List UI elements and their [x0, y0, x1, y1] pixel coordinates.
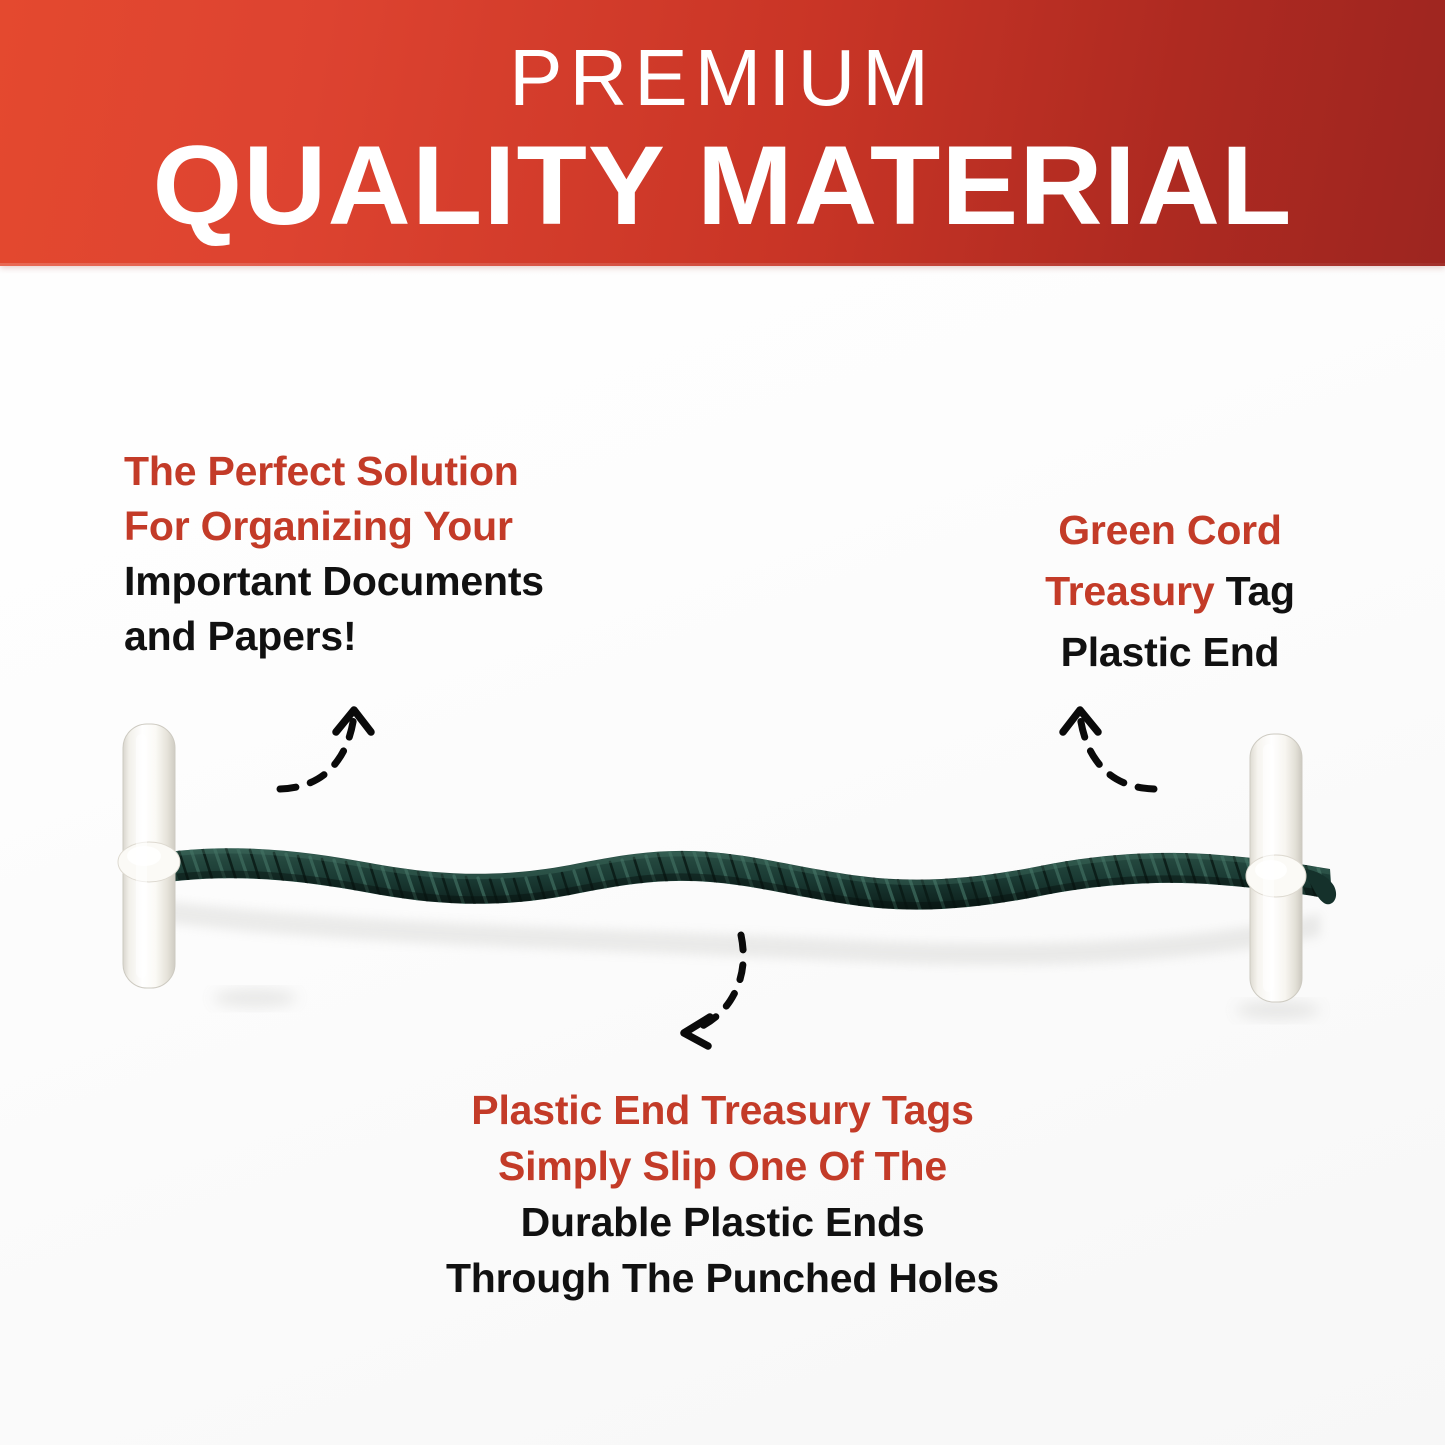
- callout-right-line-2: Treasury Tag: [945, 561, 1395, 622]
- callout-bottom-line-3: Durable Plastic Ends: [0, 1194, 1445, 1250]
- arrow-to-right-callout: [1036, 688, 1176, 808]
- callout-right-line-3: Plastic End: [945, 622, 1395, 683]
- callout-left-line-2: For Organizing Your: [124, 499, 544, 554]
- header-title-line1: PREMIUM: [0, 30, 1445, 126]
- callout-left: The Perfect Solution For Organizing Your…: [124, 444, 544, 664]
- callout-left-line-3: Important Documents: [124, 554, 544, 609]
- callout-right: Green Cord Treasury Tag Plastic End: [945, 500, 1395, 683]
- plastic-end-left: [118, 724, 180, 988]
- callout-bottom-line-1: Plastic End Treasury Tags: [0, 1082, 1445, 1138]
- callout-right-line-2-dark: Tag: [1226, 568, 1295, 614]
- arrow-to-bottom-callout: [648, 915, 798, 1055]
- plastic-end-right: [1246, 734, 1306, 1002]
- infographic-page: PREMIUM QUALITY MATERIAL The Perfect Sol…: [0, 0, 1445, 1445]
- callout-bottom: Plastic End Treasury Tags Simply Slip On…: [0, 1082, 1445, 1306]
- header-title-line2: QUALITY MATERIAL: [0, 124, 1445, 248]
- arrow-to-left-callout: [258, 688, 398, 808]
- callout-right-line-1: Green Cord: [945, 500, 1395, 561]
- callout-bottom-line-2: Simply Slip One Of The: [0, 1138, 1445, 1194]
- callout-left-line-1: The Perfect Solution: [124, 444, 544, 499]
- callout-bottom-line-4: Through The Punched Holes: [0, 1250, 1445, 1306]
- callout-right-line-2-red: Treasury: [1045, 568, 1226, 614]
- header-banner: PREMIUM QUALITY MATERIAL: [0, 0, 1445, 266]
- green-twisted-cord: [130, 847, 1332, 921]
- callout-left-line-4: and Papers!: [124, 609, 544, 664]
